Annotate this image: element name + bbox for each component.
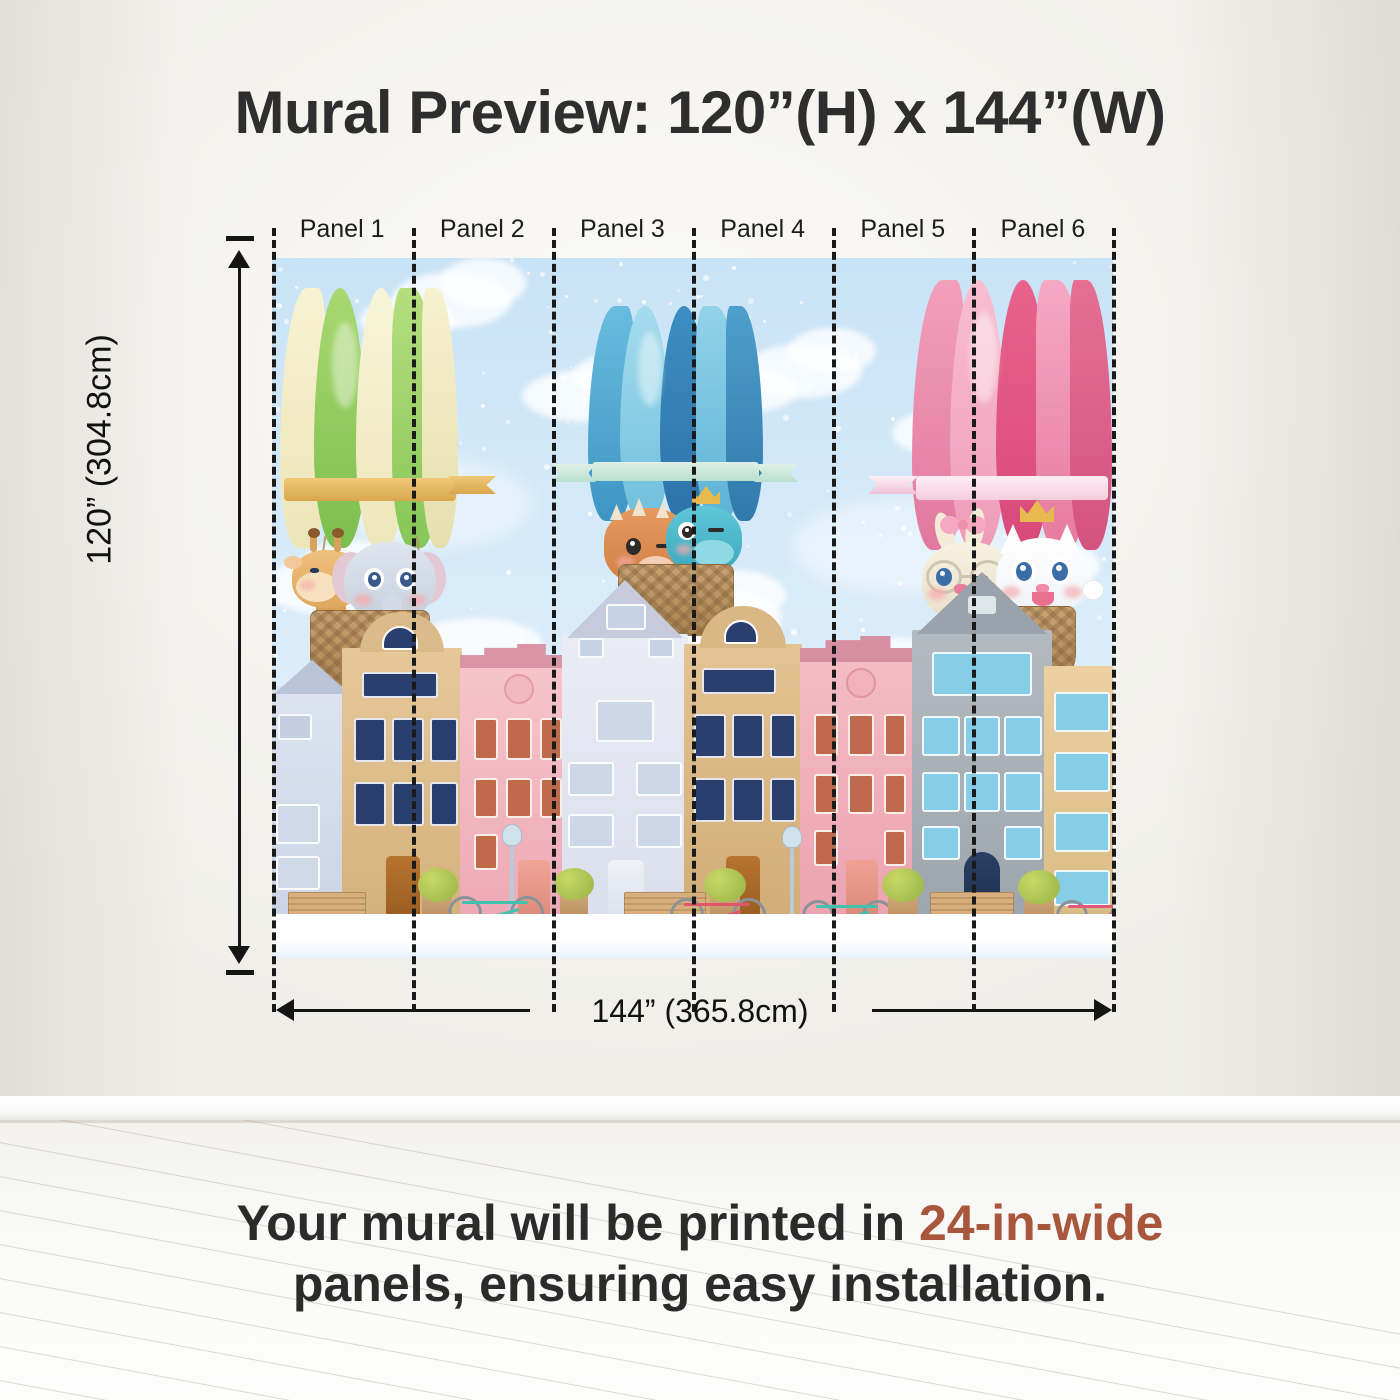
wall-shadow-right [1170,0,1400,1120]
sky-speck [898,581,903,586]
sky-speck [482,372,485,375]
balloon-blue [588,306,763,636]
sky-speck [619,262,623,266]
sky-speck [617,298,622,303]
sky-speck [703,275,709,281]
sky-speck [879,534,882,537]
balloon-band [592,462,759,481]
sky-speck [895,506,900,511]
sky-speck [901,526,906,531]
sky-speck [800,301,803,304]
sky-speck [891,417,895,421]
sky-speck [567,421,569,423]
sky-speck [540,272,545,277]
sky-speck [808,384,813,389]
caption-line-1: Your mural will be printed in 24-in-wide [0,1193,1400,1254]
sky-speck [482,447,486,451]
panel-seam-4 [832,228,836,1012]
floor-plank [0,1340,1400,1400]
balloon-band [284,478,456,501]
sky-speck [506,420,510,424]
width-dimension-label: 144” (365.8cm) [0,993,1400,1030]
sky-speck [700,295,703,298]
street-lamp [790,844,794,922]
house-tan-navy-2 [684,644,802,916]
floor-front-edge [0,1120,1400,1123]
caption-accent-text: 24-in-wide [919,1195,1163,1251]
sky-speck [478,315,480,317]
sky-speck [677,289,680,292]
balloon-envelope-green [280,288,460,548]
sky-speck [783,415,789,421]
panel-label-5: Panel 5 [833,215,973,249]
sky-speck [826,489,830,493]
panel-label-1: Panel 1 [272,215,412,249]
panel-label-4: Panel 4 [693,215,833,249]
topiary [1018,870,1060,904]
sky-speck [561,375,567,381]
sky-speck [732,266,736,270]
sky-speck [506,570,511,575]
panel-label-2: Panel 2 [412,215,552,249]
sky-speck [565,295,568,298]
sky-speck [862,521,865,524]
sky-speck [544,464,550,470]
sky-speck [460,470,463,473]
sky-speck [787,512,792,517]
panel-seam-5 [972,228,976,1012]
caption-line-2: panels, ensuring easy installation. [0,1254,1400,1315]
sky-speck [510,258,514,262]
panel-seam-6 [1112,228,1116,1012]
sky-speck [859,618,863,622]
balloon-band [916,476,1108,500]
panel-seam-3 [692,228,696,1012]
panel-label-6: Panel 6 [973,215,1113,249]
street-lamp-head [782,826,802,848]
sky-speck [470,607,473,610]
sky-speck [642,300,646,304]
sky-speck [481,404,485,408]
pink-bow-icon [940,514,986,536]
page-title: Mural Preview: 120”(H) x 144”(W) [0,78,1400,147]
caption-line-1-prefix: Your mural will be printed in [237,1195,919,1251]
sky-speck [853,353,858,358]
sky-speck [763,320,766,323]
sky-speck [669,302,672,305]
caption: Your mural will be printed in 24-in-wide… [0,1193,1400,1315]
baseboard [0,1096,1400,1122]
panel-seam-2 [552,228,556,1012]
height-dimension-label: 120” (304.8cm) [81,270,120,630]
sky-speck [823,367,826,370]
panel-seam-1 [412,228,416,1012]
panel-label-3: Panel 3 [552,215,692,249]
sky-speck [532,547,534,549]
sky-speck [278,267,283,272]
street-lamp-head [502,824,522,846]
sky-speck [570,366,572,368]
sky-speck [594,299,598,303]
sky-speck [527,272,530,275]
sky-speck [821,349,826,354]
topiary [882,868,924,902]
sky-speck [547,306,549,308]
sky-speck [748,298,754,304]
cat-paw [1082,580,1104,600]
topiary [554,868,594,900]
sky-speck [1073,261,1076,264]
sky-speck [568,409,571,412]
panel-seam-0 [272,228,276,1012]
